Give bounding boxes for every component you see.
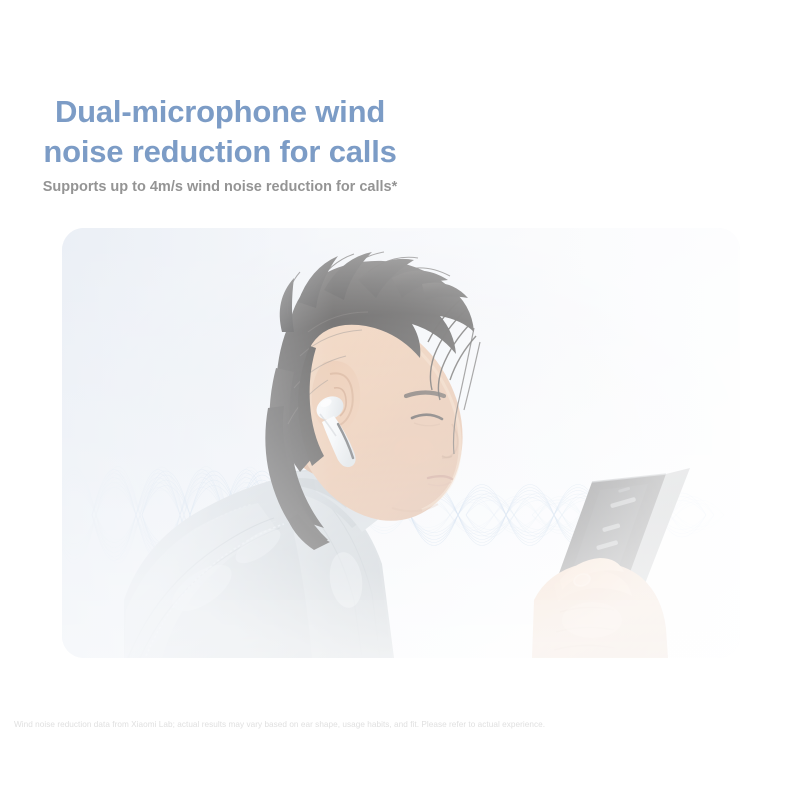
page-title: Dual-microphone wind noise reduction for… [18, 92, 422, 171]
headline-block: Dual-microphone wind noise reduction for… [0, 92, 440, 197]
page-title-line-2: noise reduction for calls [43, 134, 396, 169]
hero-image-panel [62, 228, 740, 658]
page-root: Dual-microphone wind noise reduction for… [0, 0, 800, 800]
page-subtitle: Supports up to 4m/s wind noise reduction… [34, 177, 406, 197]
hero-illustration [62, 228, 740, 658]
page-title-line-1: Dual-microphone wind [55, 94, 385, 129]
footnote-disclaimer: Wind noise reduction data from Xiaomi La… [14, 719, 774, 730]
